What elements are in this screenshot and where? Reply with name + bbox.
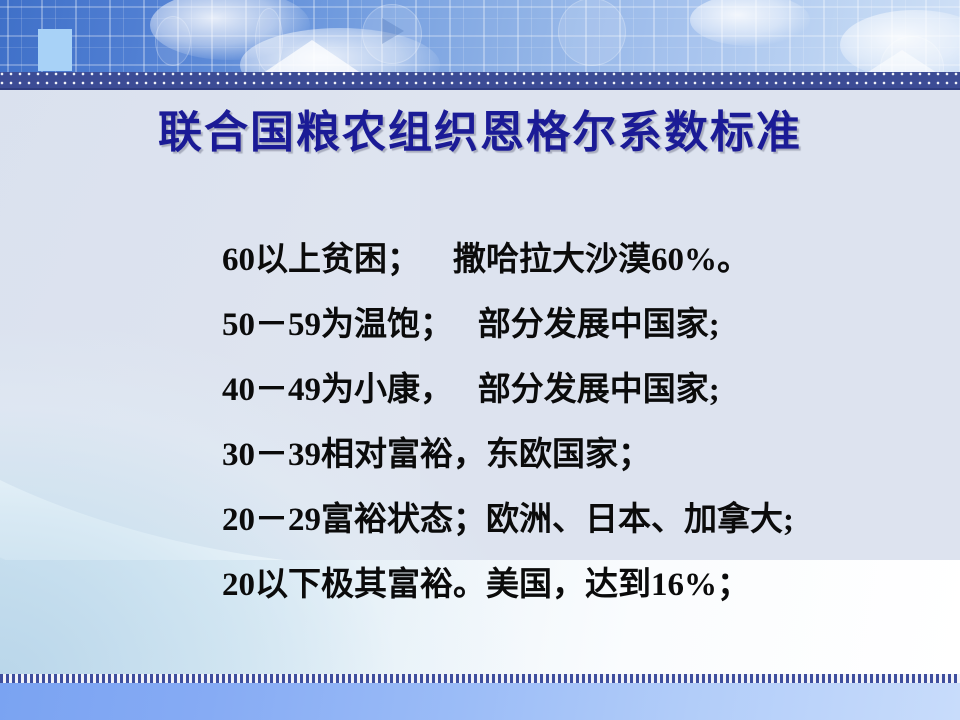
header-divider-edge — [0, 88, 960, 90]
footer-dashed-rule — [0, 674, 960, 683]
body-line-4: 30－39相对富裕，东欧国家； — [222, 423, 942, 488]
slide-footer-bar — [0, 683, 960, 720]
body-line-3: 40－49为小康， 部分发展中国家; — [222, 358, 942, 423]
presentation-slide: 联合国粮农组织恩格尔系数标准 60以上贫困； 撒哈拉大沙漠60%。 50－59为… — [0, 0, 960, 720]
body-line-6: 20以下极其富裕。美国，达到16%； — [222, 553, 942, 618]
body-line-1: 60以上贫困； 撒哈拉大沙漠60%。 — [222, 228, 942, 293]
body-line-5: 20－29富裕状态；欧洲、日本、加拿大; — [222, 488, 942, 553]
ellipse-decor-icon — [155, 16, 191, 66]
circle-decor-icon — [558, 0, 626, 66]
body-line-2: 50－59为温饱； 部分发展中国家; — [222, 293, 942, 358]
slide-title: 联合国粮农组织恩格尔系数标准 — [0, 96, 960, 160]
play-triangle-icon — [382, 18, 404, 44]
slide-body: 60以上贫困； 撒哈拉大沙漠60%。 50－59为温饱； 部分发展中国家; 40… — [222, 228, 942, 618]
accent-square-icon — [38, 29, 72, 71]
ellipse-decor-icon — [255, 8, 283, 72]
